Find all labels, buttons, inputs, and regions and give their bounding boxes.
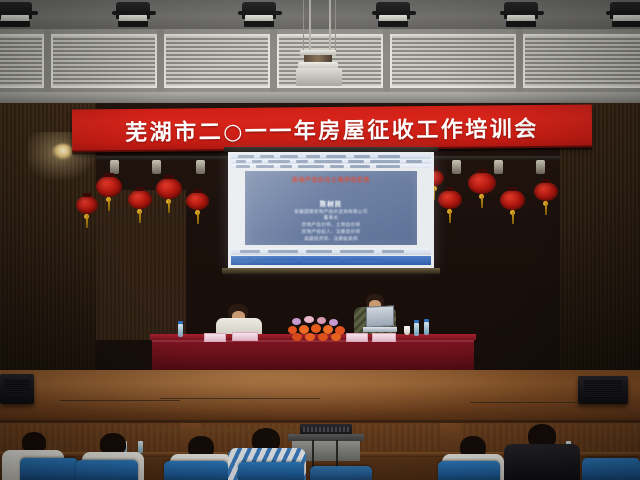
taskbar <box>231 256 431 265</box>
red-lantern <box>128 190 152 209</box>
vent-panel <box>51 34 157 88</box>
red-lantern <box>96 176 122 197</box>
laptop-screen <box>366 305 394 327</box>
stage-spotlight <box>372 2 416 28</box>
red-lantern <box>156 178 182 199</box>
rig-lamp <box>536 160 545 174</box>
vent-panel <box>523 34 640 88</box>
stage-spotlight <box>112 2 156 28</box>
slide-line: 董事长 <box>253 215 409 221</box>
projector-rod <box>309 0 311 52</box>
slide-line: 房地产估价师、土地估价师 <box>253 222 409 228</box>
name-card <box>204 333 226 342</box>
audience-seat[interactable] <box>76 460 138 480</box>
name-card <box>346 333 368 342</box>
name-card <box>372 333 396 342</box>
stage-spotlight <box>606 2 640 28</box>
banner-title: 芜湖市二○一一年房屋征收工作培训会 <box>125 111 539 147</box>
red-lantern <box>438 190 462 209</box>
water-bottle <box>424 322 429 335</box>
rig-lamp <box>452 160 461 174</box>
slide-line: 房地产经纪人、注册造价师 <box>253 229 409 235</box>
stage-spotlight <box>238 2 282 28</box>
rig-lamp <box>110 160 119 174</box>
laptop-base <box>363 327 397 332</box>
audience-seat[interactable] <box>164 461 228 480</box>
audience-seat[interactable] <box>512 460 578 480</box>
red-lantern <box>500 190 525 210</box>
water-bottle <box>138 441 143 453</box>
stage-spotlight <box>0 2 38 28</box>
projection-screen: 房地产估价与土地评估实务 陈树民 安徽国联房地产估价咨询有限公司 董事长 房地产… <box>228 152 434 274</box>
audience-seat[interactable] <box>20 458 78 480</box>
projector-rod <box>329 0 331 52</box>
wall-light <box>52 144 74 160</box>
name-card <box>232 332 258 341</box>
stage-monitor-speaker <box>578 376 628 404</box>
red-lantern <box>534 182 558 201</box>
stage-spotlight <box>500 2 544 28</box>
red-lantern <box>76 196 98 214</box>
vent-panel <box>0 34 44 88</box>
rig-lamp <box>196 160 205 174</box>
auditorium-photo: 芜湖市二○一一年房屋征收工作培训会 <box>0 0 640 480</box>
water-bottle <box>414 323 419 336</box>
vent-panel <box>164 34 270 88</box>
audience-seat[interactable] <box>310 466 372 480</box>
rig-lamp <box>152 160 161 174</box>
stage-monitor-speaker <box>0 374 34 404</box>
slide-canvas: 房地产估价与土地评估实务 陈树民 安徽国联房地产估价咨询有限公司 董事长 房地产… <box>245 171 417 245</box>
red-lantern <box>468 172 496 194</box>
audience-seat[interactable] <box>238 462 304 480</box>
slide-presenter-name: 陈树民 <box>253 198 409 208</box>
audience-seat[interactable] <box>582 458 640 480</box>
slide-line: 高级经济师、注册拍卖师 <box>253 236 409 242</box>
ceiling <box>0 0 640 30</box>
slide-title: 房地产估价与土地评估实务 <box>253 176 409 185</box>
head-table-skirt <box>152 338 474 374</box>
audience-seat[interactable] <box>438 461 500 480</box>
red-lantern <box>186 192 209 210</box>
paper-cup <box>404 326 410 335</box>
vent-panel <box>390 34 516 88</box>
ceiling-projector <box>296 68 342 86</box>
water-bottle <box>178 324 183 337</box>
flower-arrangement <box>286 316 352 342</box>
